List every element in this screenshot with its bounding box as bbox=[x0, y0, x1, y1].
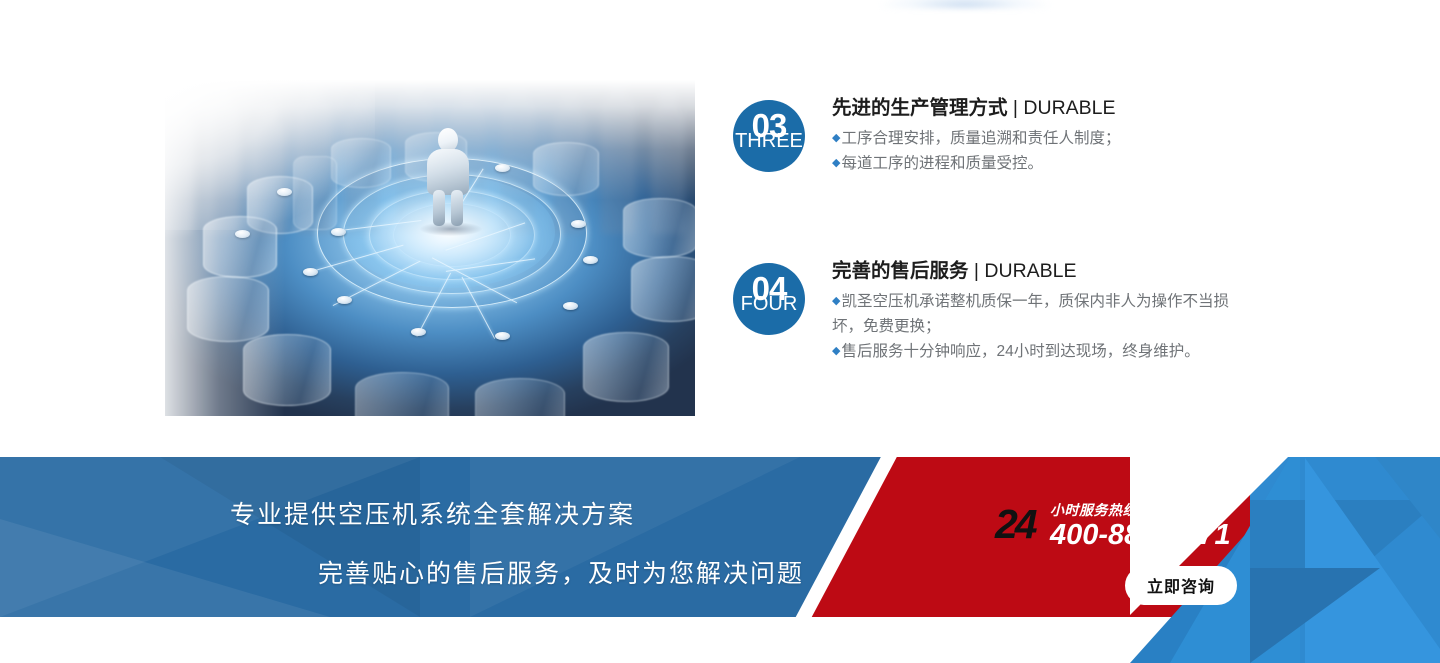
node-cylinder bbox=[475, 378, 565, 416]
feature-bullet-text: 工序合理安排，质量追溯和责任人制度； bbox=[841, 130, 1120, 147]
top-edge-artifact bbox=[880, 0, 1050, 8]
hotline-hours: 24 bbox=[995, 504, 1035, 545]
feature-title-tail: | DURABLE bbox=[969, 260, 1077, 282]
slogan-line-2: 完善贴心的售后服务，及时为您解决问题 bbox=[318, 554, 804, 590]
feature-list: 03 THREE 先进的生产管理方式 | DURABLE ◆工序合理安排，质量追… bbox=[733, 96, 1253, 446]
feature-title-cn: 完善的售后服务 bbox=[832, 260, 969, 282]
feature-badge-03: 03 THREE bbox=[733, 100, 805, 172]
diamond-bullet-icon: ◆ bbox=[832, 345, 840, 357]
network-node bbox=[337, 296, 352, 304]
hotline-hours-text: 24 bbox=[995, 501, 1035, 547]
network-node bbox=[563, 302, 578, 310]
network-illustration bbox=[165, 80, 695, 416]
feature-bullet-text: 售后服务十分钟响应，24小时到达现场，终身维护。 bbox=[841, 343, 1199, 360]
banner-slogan: 专业提供空压机系统全套解决方案 完善贴心的售后服务，及时为您解决问题 bbox=[0, 457, 900, 617]
badge-word: FOUR bbox=[733, 294, 805, 314]
diamond-bullet-icon: ◆ bbox=[832, 132, 840, 144]
feature-title: 先进的生产管理方式 | DURABLE bbox=[832, 96, 1253, 120]
network-node bbox=[411, 328, 426, 336]
node-cylinder bbox=[631, 256, 695, 322]
feature-bullet-text: 每道工序的进程和质量受控。 bbox=[841, 155, 1043, 172]
network-node bbox=[495, 332, 510, 340]
slogan-line-1: 专业提供空压机系统全套解决方案 bbox=[230, 495, 635, 531]
feature-title: 完善的售后服务 | DURABLE bbox=[832, 259, 1253, 283]
feature-bullet-line: ◆每道工序的进程和质量受控。 bbox=[832, 151, 1244, 176]
feature-title-cn: 先进的生产管理方式 bbox=[832, 97, 1008, 119]
network-node bbox=[583, 256, 598, 264]
badge-word: THREE bbox=[733, 131, 805, 151]
node-cylinder bbox=[623, 198, 695, 258]
consult-now-button[interactable]: 立即咨询 bbox=[1125, 566, 1237, 605]
feature-bullet-line: ◆售后服务十分钟响应，24小时到达现场，终身维护。 bbox=[832, 339, 1244, 364]
diamond-bullet-icon: ◆ bbox=[832, 295, 840, 307]
feature-bullet-line: ◆凯圣空压机承诺整机质保一年，质保内非人为操作不当损坏，免费更换； bbox=[832, 289, 1244, 339]
network-node bbox=[303, 268, 318, 276]
node-cylinder bbox=[355, 372, 449, 416]
node-cylinder bbox=[583, 332, 669, 402]
feature-item-04: 04 FOUR 完善的售后服务 | DURABLE ◆凯圣空压机承诺整机质保一年… bbox=[733, 259, 1253, 365]
feature-title-tail: | DURABLE bbox=[1008, 97, 1116, 119]
diamond-bullet-icon: ◆ bbox=[832, 157, 840, 169]
hotline-number[interactable]: 400-881-8971 bbox=[1050, 519, 1231, 552]
hotline-label: 小时服务热线： bbox=[1050, 500, 1152, 520]
feature-bullet-text: 凯圣空压机承诺整机质保一年，质保内非人为操作不当损坏，免费更换； bbox=[832, 293, 1229, 335]
feature-bullet-line: ◆工序合理安排，质量追溯和责任人制度； bbox=[832, 126, 1244, 151]
feature-item-03: 03 THREE 先进的生产管理方式 | DURABLE ◆工序合理安排，质量追… bbox=[733, 96, 1253, 177]
network-node bbox=[571, 220, 586, 228]
feature-badge-04: 04 FOUR bbox=[733, 263, 805, 335]
